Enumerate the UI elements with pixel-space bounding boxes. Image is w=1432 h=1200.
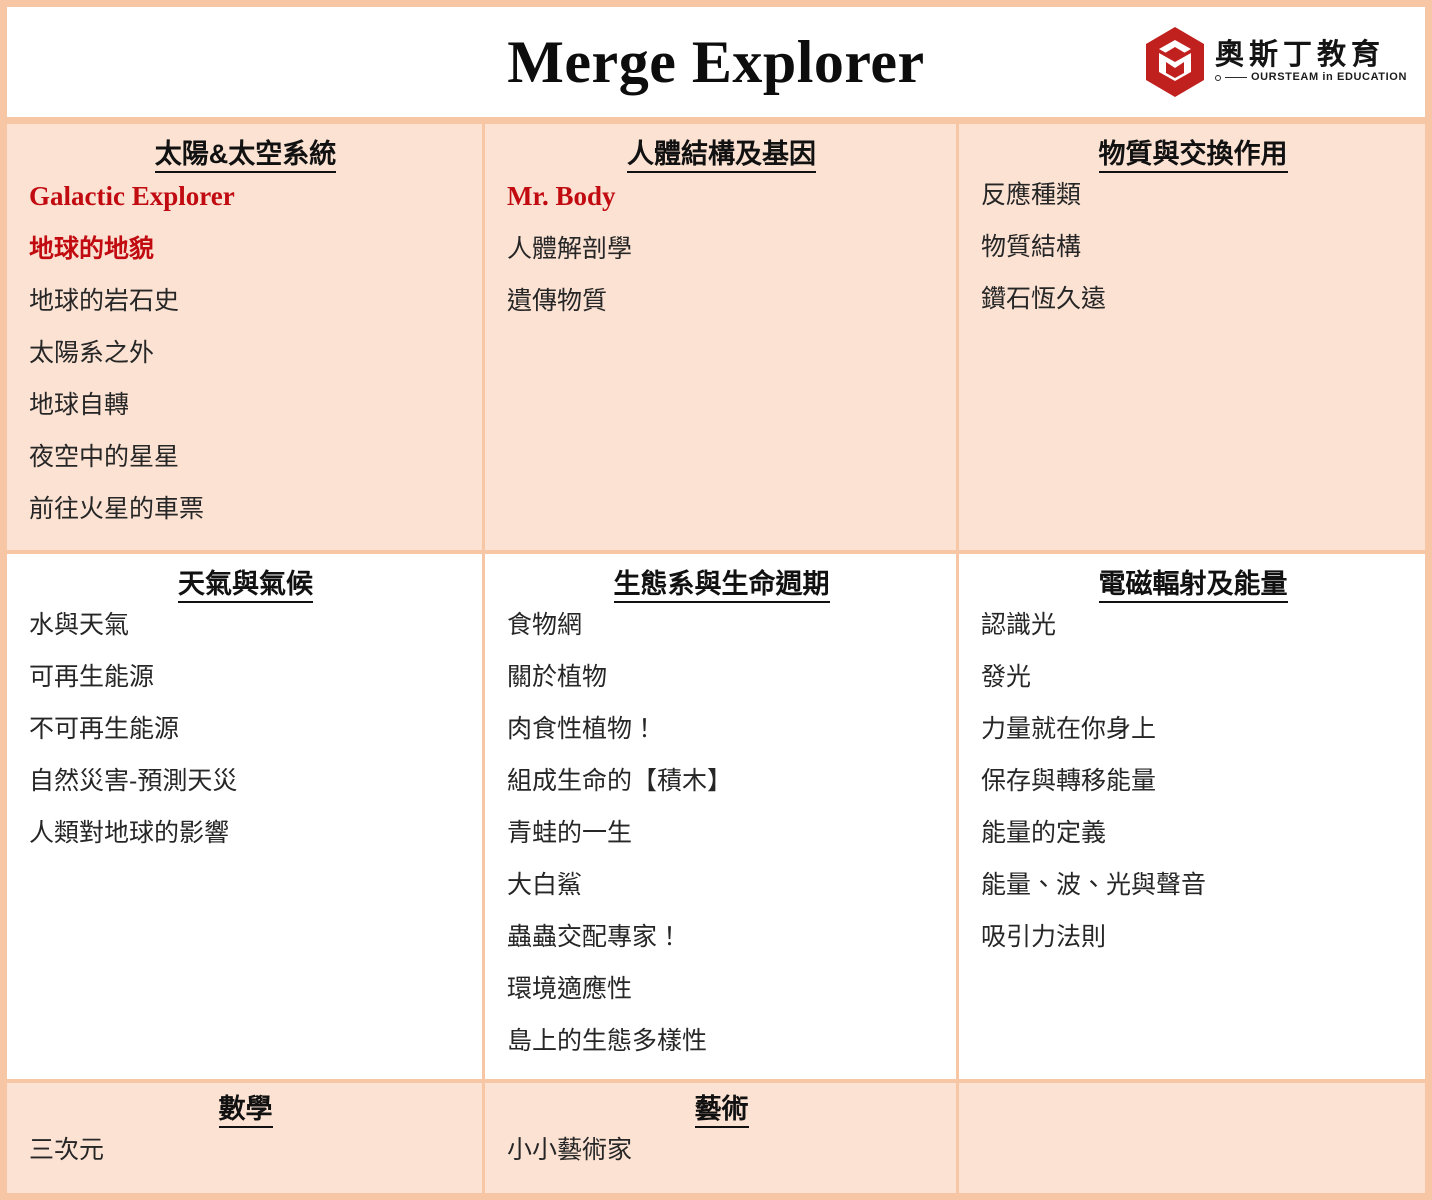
page-title: Merge Explorer [507, 32, 924, 92]
list-item[interactable]: 地球的地貌 [29, 237, 462, 289]
list-item[interactable]: Mr. Body [507, 183, 936, 237]
list-item[interactable]: 不可再生能源 [29, 717, 462, 769]
brand-tagline-row: OURSTEAM in EDUCATION [1215, 72, 1407, 83]
topic-list: 小小藝術家 [507, 1138, 936, 1163]
category-title: 數學 [29, 1093, 462, 1127]
category-title: 藝術 [507, 1093, 936, 1127]
category-title: 太陽&太空系統 [29, 138, 462, 172]
list-item[interactable]: 鑽石恆久遠 [981, 287, 1405, 339]
list-item[interactable]: 發光 [981, 665, 1405, 717]
circle-dot-icon [1215, 75, 1221, 81]
category-title: 生態系與生命週期 [507, 568, 936, 602]
topic-list: 反應種類 物質結構 鑽石恆久遠 [981, 183, 1405, 339]
list-item[interactable]: 地球自轉 [29, 393, 462, 445]
category-cell-solar-space: 太陽&太空系統 Galactic Explorer 地球的地貌 地球的岩石史 太… [7, 124, 485, 550]
category-title: 電磁輻射及能量 [981, 568, 1405, 602]
list-item[interactable]: 小小藝術家 [507, 1138, 936, 1163]
category-title: 人體結構及基因 [507, 138, 936, 172]
list-item[interactable]: 認識光 [981, 613, 1405, 665]
category-title-text: 人體結構及基因 [627, 139, 816, 173]
list-item[interactable]: 遺傳物質 [507, 289, 936, 341]
list-item[interactable]: 環境適應性 [507, 977, 936, 1029]
list-item[interactable]: 自然災害-預測天災 [29, 769, 462, 821]
list-item[interactable]: 組成生命的【積木】 [507, 769, 936, 821]
list-item[interactable]: 夜空中的星星 [29, 445, 462, 497]
list-item[interactable]: 吸引力法則 [981, 925, 1405, 977]
category-title-text: 數學 [219, 1094, 273, 1128]
list-item[interactable]: 地球的岩石史 [29, 289, 462, 341]
brand-logo: 奧斯丁教育 OURSTEAM in EDUCATION [1144, 26, 1407, 98]
topic-list: 三次元 [29, 1138, 462, 1163]
list-item[interactable]: 能量的定義 [981, 821, 1405, 873]
list-item[interactable]: 食物網 [507, 613, 936, 665]
list-item[interactable]: 太陽系之外 [29, 341, 462, 393]
list-item[interactable]: 三次元 [29, 1138, 462, 1163]
page-header: Merge Explorer 奧斯丁教育 OURSTEAM in EDUCATI… [7, 7, 1425, 124]
list-item[interactable]: 人類對地球的影響 [29, 821, 462, 873]
brand-text-block: 奧斯丁教育 OURSTEAM in EDUCATION [1215, 41, 1407, 83]
category-title-text: 太陽&太空系統 [155, 139, 337, 173]
list-item[interactable]: 關於植物 [507, 665, 936, 717]
list-item[interactable]: 青蛙的一生 [507, 821, 936, 873]
topic-list: Mr. Body 人體解剖學 遺傳物質 [507, 183, 936, 341]
category-cell-empty [959, 1083, 1425, 1193]
topic-list: Galactic Explorer 地球的地貌 地球的岩石史 太陽系之外 地球自… [29, 183, 462, 549]
brand-name-cn: 奧斯丁教育 [1215, 41, 1385, 70]
category-title-text: 電磁輻射及能量 [1099, 569, 1288, 603]
list-item[interactable]: 反應種類 [981, 183, 1405, 235]
category-cell-weather-climate: 天氣與氣候 水與天氣 可再生能源 不可再生能源 自然災害-預測天災 人類對地球的… [7, 554, 485, 1079]
list-item[interactable]: 水與天氣 [29, 613, 462, 665]
list-item[interactable]: 保存與轉移能量 [981, 769, 1405, 821]
grid-row-top: 太陽&太空系統 Galactic Explorer 地球的地貌 地球的岩石史 太… [7, 124, 1425, 554]
list-item[interactable]: 力量就在你身上 [981, 717, 1405, 769]
category-cell-matter-exchange: 物質與交換作用 反應種類 物質結構 鑽石恆久遠 [959, 124, 1425, 550]
merge-explorer-sheet: Merge Explorer 奧斯丁教育 OURSTEAM in EDUCATI… [0, 0, 1432, 1200]
category-title: 天氣與氣候 [29, 568, 462, 602]
category-title-text: 藝術 [695, 1094, 749, 1128]
topic-list: 食物網 關於植物 肉食性植物！ 組成生命的【積木】 青蛙的一生 大白鯊 蟲蟲交配… [507, 613, 936, 1079]
list-item[interactable]: 人體解剖學 [507, 237, 936, 289]
category-title-text: 生態系與生命週期 [614, 569, 830, 603]
list-item[interactable]: Galactic Explorer [29, 183, 462, 237]
grid-row-middle: 天氣與氣候 水與天氣 可再生能源 不可再生能源 自然災害-預測天災 人類對地球的… [7, 554, 1425, 1083]
category-cell-em-radiation-energy: 電磁輻射及能量 認識光 發光 力量就在你身上 保存與轉移能量 能量的定義 能量、… [959, 554, 1425, 1079]
category-grid: 太陽&太空系統 Galactic Explorer 地球的地貌 地球的岩石史 太… [7, 124, 1425, 1193]
category-cell-math: 數學 三次元 [7, 1083, 485, 1193]
topic-list: 認識光 發光 力量就在你身上 保存與轉移能量 能量的定義 能量、波、光與聲音 吸… [981, 613, 1405, 977]
category-cell-ecosystem-lifecycle: 生態系與生命週期 食物網 關於植物 肉食性植物！ 組成生命的【積木】 青蛙的一生… [485, 554, 959, 1079]
list-item[interactable]: 大白鯊 [507, 873, 936, 925]
category-title-text: 天氣與氣候 [178, 569, 313, 603]
category-cell-human-body-genes: 人體結構及基因 Mr. Body 人體解剖學 遺傳物質 [485, 124, 959, 550]
list-item[interactable]: 物質結構 [981, 235, 1405, 287]
topic-list: 水與天氣 可再生能源 不可再生能源 自然災害-預測天災 人類對地球的影響 [29, 613, 462, 873]
category-title-text: 物質與交換作用 [1099, 139, 1288, 173]
list-item[interactable]: 島上的生態多樣性 [507, 1029, 936, 1079]
brand-name-en: OURSTEAM in EDUCATION [1251, 72, 1407, 83]
grid-row-bottom: 數學 三次元 藝術 小小藝術家 [7, 1083, 1425, 1193]
list-item[interactable]: 能量、波、光與聲音 [981, 873, 1405, 925]
list-item[interactable]: 蟲蟲交配專家！ [507, 925, 936, 977]
horizontal-rule-icon [1225, 77, 1247, 79]
hexagon-cube-logo-icon [1144, 26, 1206, 98]
list-item[interactable]: 肉食性植物！ [507, 717, 936, 769]
category-cell-art: 藝術 小小藝術家 [485, 1083, 959, 1193]
list-item[interactable]: 可再生能源 [29, 665, 462, 717]
category-title: 物質與交換作用 [981, 138, 1405, 172]
list-item[interactable]: 前往火星的車票 [29, 497, 462, 549]
